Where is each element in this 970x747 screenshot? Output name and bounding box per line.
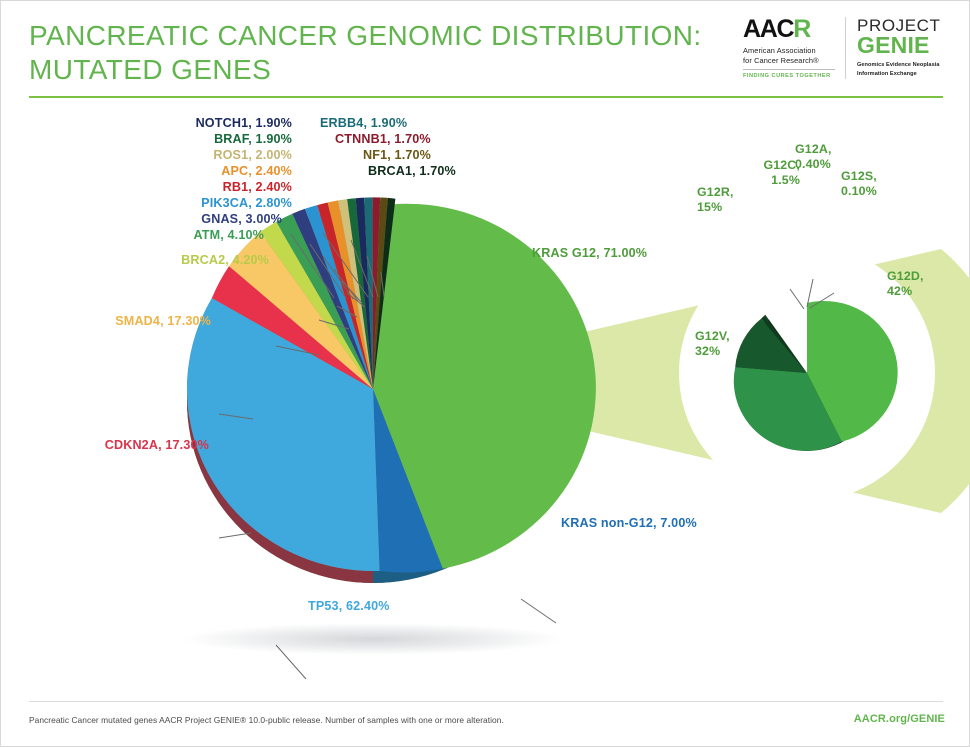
- footer-divider: [29, 701, 943, 702]
- label-g12a: G12A, 0.40%: [795, 142, 832, 171]
- label-smad4: SMAD4, 17.30%: [11, 314, 211, 328]
- label-g12c: G12C, 1.5%: [736, 158, 800, 187]
- footer-url[interactable]: AACR.org/GENIE: [854, 713, 945, 725]
- label-pik3ca: PIK3CA, 2.80%: [77, 196, 292, 210]
- aacr-tagline: FINDING CURES TOGETHER: [743, 73, 835, 79]
- label-g12v: G12V, 32%: [695, 329, 730, 358]
- aacr-wordmark-left: AAC: [743, 15, 793, 43]
- page-title-line-2: Mutated Genes: [29, 53, 729, 87]
- infographic-page: Pancreatic Cancer Genomic Distribution: …: [0, 0, 970, 747]
- label-braf: BRAF, 1.90%: [87, 132, 292, 146]
- footnote-text: Pancreatic Cancer mutated genes AACR Pro…: [29, 715, 504, 725]
- genie-subtitle: Genomics Evidence Neoplasia Information …: [857, 61, 953, 78]
- label-g12r: G12R, 15%: [697, 185, 734, 214]
- label-g12s: G12S, 0.10%: [841, 169, 877, 198]
- label-ros1: ROS1, 2.00%: [87, 148, 292, 162]
- label-brca2: BRCA2, 4.20%: [37, 253, 269, 267]
- page-title-line-1: Pancreatic Cancer Genomic Distribution:: [29, 19, 729, 53]
- label-nf1: NF1, 1.70%: [363, 148, 431, 162]
- aacr-wordmark: AACR: [743, 17, 835, 42]
- label-brca1: BRCA1, 1.70%: [368, 164, 456, 178]
- label-apc: APC, 2.40%: [87, 164, 292, 178]
- leader-cdkn2a: [219, 533, 251, 538]
- pie-drop-shadow: [183, 623, 563, 655]
- genie-subtitle-line-1: Genomics Evidence Neoplasia: [857, 61, 953, 69]
- aacr-subtitle-line-2: for Cancer Research®: [743, 56, 835, 66]
- leader-krasnon: [521, 599, 556, 623]
- header-divider: [29, 96, 943, 98]
- header: Pancreatic Cancer Genomic Distribution: …: [1, 1, 970, 101]
- aacr-logo: AACR American Association for Cancer Res…: [743, 17, 846, 79]
- label-kras-g12: KRAS G12, 71.00%: [532, 246, 647, 260]
- page-title: Pancreatic Cancer Genomic Distribution: …: [29, 19, 729, 86]
- label-g12d: G12D, 42%: [887, 269, 924, 298]
- label-tp53: TP53, 62.40%: [308, 599, 390, 613]
- genie-subtitle-line-2: Information Exchange: [857, 70, 953, 78]
- label-cdkn2a: CDKN2A, 17.30%: [1, 438, 209, 452]
- aacr-divider: [743, 69, 835, 70]
- label-erbb4: ERBB4, 1.90%: [320, 116, 407, 130]
- label-kras-non-g12: KRAS non-G12, 7.00%: [561, 516, 697, 530]
- logo-group: AACR American Association for Cancer Res…: [743, 17, 953, 89]
- chart-canvas: NOTCH1, 1.90% BRAF, 1.90% ROS1, 2.00% AP…: [1, 101, 970, 691]
- label-rb1: RB1, 2.40%: [87, 180, 292, 194]
- aacr-wordmark-accent: R: [793, 15, 810, 43]
- label-ctnnb1: CTNNB1, 1.70%: [335, 132, 431, 146]
- label-notch1: NOTCH1, 1.90%: [87, 116, 292, 130]
- aacr-subtitle-line-1: American Association: [743, 46, 835, 56]
- project-genie-logo: PROJECT GENIE Genomics Evidence Neoplasi…: [846, 17, 953, 78]
- aacr-subtitle: American Association for Cancer Research…: [743, 46, 835, 66]
- genie-logo-line-2: GENIE: [857, 34, 953, 57]
- label-atm: ATM, 4.10%: [57, 228, 264, 242]
- label-gnas: GNAS, 3.00%: [67, 212, 282, 226]
